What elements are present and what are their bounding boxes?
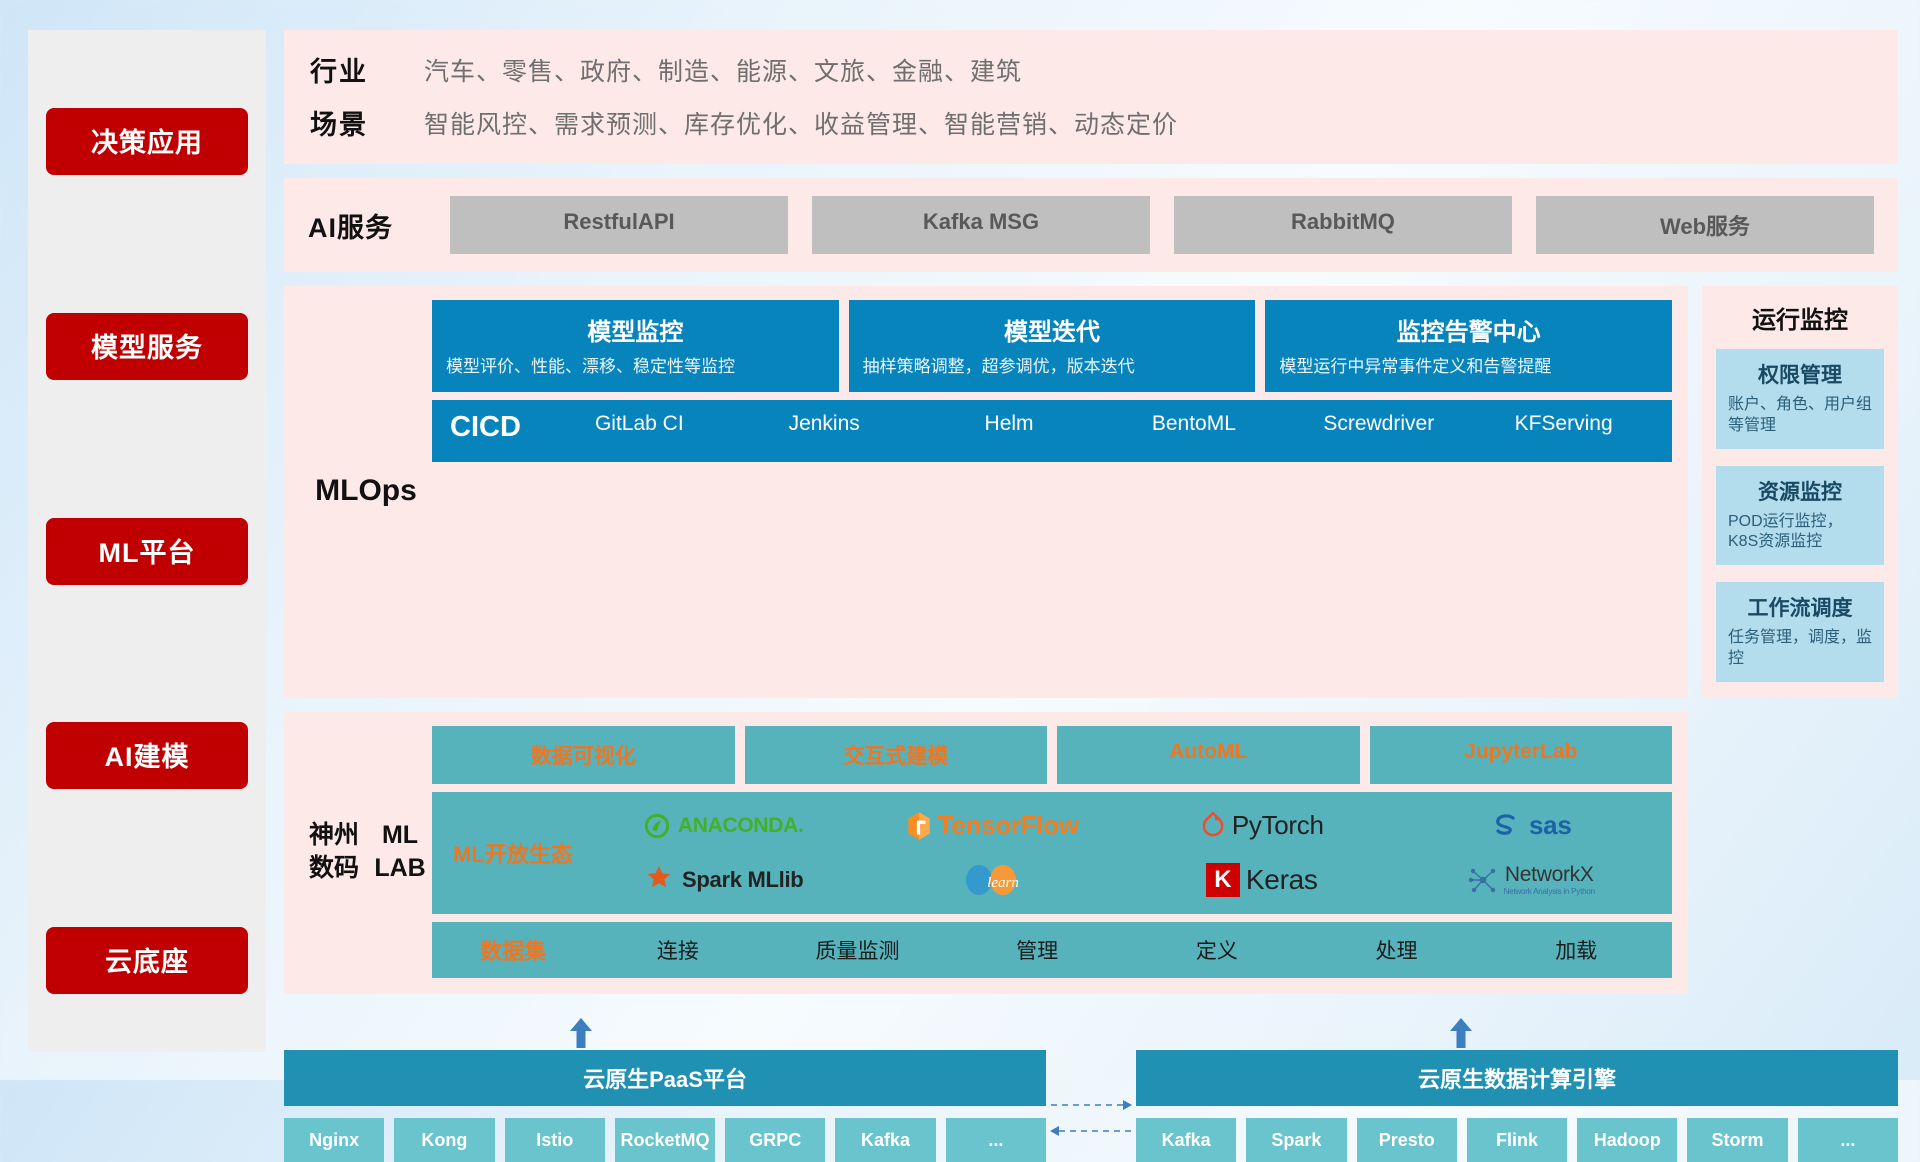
- ml-ecosystem-panel: ML开放生态 ANACONDA.: [432, 792, 1672, 914]
- diagram-root: 决策应用 模型服务 ML平台 AI建模 云底座 行业 汽车、零售、政府、制造、能…: [0, 0, 1920, 1080]
- cicd-item-jenkins[interactable]: Jenkins: [734, 411, 915, 437]
- ai-service-button-kafka-msg[interactable]: Kafka MSG: [812, 196, 1150, 254]
- ml-lab-panel: 神州数码 ML LAB 数据可视化 交互式建模 AutoML JupyterLa…: [284, 712, 1688, 994]
- ai-service-button-restfulapi[interactable]: RestfulAPI: [450, 196, 788, 254]
- pytorch-icon: [1200, 811, 1226, 841]
- rail-item-ai-modeling[interactable]: AI建模: [46, 722, 248, 789]
- card-title: 资源监控: [1728, 476, 1872, 506]
- card-title: 工作流调度: [1728, 592, 1872, 622]
- paas-chip-istio[interactable]: Istio: [505, 1118, 605, 1162]
- ml-lab-label-line1: 神州数码: [300, 819, 368, 884]
- ai-service-panel: AI服务 RestfulAPI Kafka MSG RabbitMQ Web服务: [284, 178, 1898, 272]
- networkx-wordmark: NetworkX Network Analysis in Python: [1504, 863, 1595, 896]
- dataset-item-quality-monitoring[interactable]: 质量监测: [768, 935, 948, 965]
- paas-chip-kong[interactable]: Kong: [394, 1118, 494, 1162]
- engine-chip-flink[interactable]: Flink: [1467, 1118, 1567, 1162]
- anaconda-icon: [642, 811, 672, 841]
- paas-chip-grpc[interactable]: GRPC: [725, 1118, 825, 1162]
- tool-chip-jupyterlab[interactable]: JupyterLab: [1370, 726, 1673, 784]
- card-desc: 模型评价、性能、漂移、稳定性等监控: [446, 356, 825, 378]
- engine-chips: Kafka Spark Presto Flink Hadoop Storm ..…: [1136, 1118, 1898, 1162]
- engine-chip-hadoop[interactable]: Hadoop: [1577, 1118, 1677, 1162]
- tool-chip-interactive-modeling[interactable]: 交互式建模: [745, 726, 1048, 784]
- ecosystem-logo-row-2: Spark MLlib learn: [588, 854, 1666, 906]
- dataset-row: 数据集 连接 质量监测 管理 定义 处理 加载: [432, 922, 1672, 978]
- logo-label: ANACONDA.: [678, 814, 804, 838]
- tool-chip-data-visualization[interactable]: 数据可视化: [432, 726, 735, 784]
- card-desc: 任务管理，调度，监控: [1728, 628, 1872, 670]
- mlops-label: MLOps: [300, 300, 432, 682]
- main-column: 行业 汽车、零售、政府、制造、能源、文旅、金融、建筑 场景 智能风控、需求预测、…: [284, 30, 1898, 1052]
- rail-item-ml-platform[interactable]: ML平台: [46, 518, 248, 585]
- ml-lab-label-line2: ML LAB: [368, 819, 432, 884]
- arrow-row: [284, 1016, 1898, 1050]
- dataset-item-loading[interactable]: 加载: [1486, 935, 1666, 965]
- scenario-value: 智能风控、需求预测、库存优化、收益管理、智能营销、动态定价: [424, 105, 1178, 141]
- dataset-item-definition[interactable]: 定义: [1127, 935, 1307, 965]
- paas-chip-rocketmq[interactable]: RocketMQ: [615, 1118, 715, 1162]
- engine-bar[interactable]: 云原生数据计算引擎: [1136, 1050, 1898, 1106]
- cicd-item-kfserving[interactable]: KFServing: [1473, 411, 1654, 437]
- engine-chip-kafka[interactable]: Kafka: [1136, 1118, 1236, 1162]
- logo-label: sas: [1529, 810, 1571, 841]
- card-desc: 抽样策略调整，超参调优，版本迭代: [863, 356, 1242, 378]
- arrow-up-icon: [1444, 1016, 1478, 1050]
- cicd-item-bentoml[interactable]: BentoML: [1103, 411, 1284, 437]
- monitor-card-workflow[interactable]: 工作流调度 任务管理，调度，监控: [1716, 582, 1884, 682]
- paas-bar[interactable]: 云原生PaaS平台: [284, 1050, 1046, 1106]
- engine-chip-more[interactable]: ...: [1798, 1118, 1898, 1162]
- bidirectional-dashed-connector: [1047, 1092, 1135, 1144]
- logo-spark-mllib[interactable]: Spark MLlib: [588, 854, 858, 906]
- engine-chip-spark[interactable]: Spark: [1246, 1118, 1346, 1162]
- ml-lab-content: 数据可视化 交互式建模 AutoML JupyterLab ML开放生态: [432, 726, 1672, 978]
- cicd-item-screwdriver[interactable]: Screwdriver: [1288, 411, 1469, 437]
- paas-chip-nginx[interactable]: Nginx: [284, 1118, 384, 1162]
- mlops-card-alert-center[interactable]: 监控告警中心 模型运行中异常事件定义和告警提醒: [1265, 300, 1672, 392]
- card-desc: POD运行监控，K8S资源监控: [1728, 512, 1872, 554]
- rail-item-model-service[interactable]: 模型服务: [46, 313, 248, 380]
- industry-label: 行业: [310, 50, 396, 89]
- logo-anaconda[interactable]: ANACONDA.: [588, 800, 858, 852]
- networkx-tagline: Network Analysis in Python: [1504, 887, 1595, 896]
- scenario-label: 场景: [310, 103, 396, 142]
- tensorflow-icon: [906, 811, 932, 841]
- dataset-label: 数据集: [438, 934, 588, 966]
- ml-ecosystem-label: ML开放生态: [438, 800, 588, 906]
- logo-label: Keras: [1246, 864, 1318, 896]
- logo-tensorflow[interactable]: TensorFlow: [858, 800, 1128, 852]
- card-title: 模型迭代: [863, 312, 1242, 347]
- svg-text:learn: learn: [987, 875, 1019, 891]
- industry-value: 汽车、零售、政府、制造、能源、文旅、金融、建筑: [424, 52, 1022, 88]
- industry-scenario-panel: 行业 汽车、零售、政府、制造、能源、文旅、金融、建筑 场景 智能风控、需求预测、…: [284, 30, 1898, 164]
- monitor-card-permission[interactable]: 权限管理 账户、角色、用户组等管理: [1716, 349, 1884, 449]
- layout-spacer: [1702, 712, 1898, 994]
- paas-column: 云原生PaaS平台 Nginx Kong Istio RocketMQ GRPC…: [284, 1050, 1046, 1162]
- logo-networkx[interactable]: NetworkX Network Analysis in Python: [1397, 854, 1667, 906]
- dataset-item-management[interactable]: 管理: [947, 935, 1127, 965]
- logo-label: TensorFlow: [938, 810, 1079, 841]
- rail-item-cloud-foundation[interactable]: 云底座: [46, 927, 248, 994]
- run-monitor-panel: 运行监控 权限管理 账户、角色、用户组等管理 资源监控 POD运行监控，K8S资…: [1702, 286, 1898, 698]
- logo-label: PyTorch: [1232, 810, 1324, 841]
- card-desc: 模型运行中异常事件定义和告警提醒: [1279, 356, 1658, 378]
- rail-item-decision-app[interactable]: 决策应用: [46, 108, 248, 175]
- logo-keras[interactable]: K Keras: [1127, 854, 1397, 906]
- ml-lab-label: 神州数码 ML LAB: [300, 726, 432, 978]
- logo-sas[interactable]: sas: [1397, 800, 1667, 852]
- cicd-item-gitlab-ci[interactable]: GitLab CI: [549, 411, 730, 437]
- ai-service-label: AI服务: [308, 206, 428, 245]
- ml-lab-row: 神州数码 ML LAB 数据可视化 交互式建模 AutoML JupyterLa…: [284, 712, 1898, 994]
- card-desc: 账户、角色、用户组等管理: [1728, 395, 1872, 437]
- card-title: 权限管理: [1728, 359, 1872, 389]
- dataset-item-processing[interactable]: 处理: [1307, 935, 1487, 965]
- ml-ecosystem-logos: ANACONDA. TensorFlow: [588, 800, 1666, 906]
- logo-label: NetworkX: [1505, 863, 1594, 887]
- keras-icon: K: [1206, 863, 1240, 897]
- ai-service-button-rabbitmq[interactable]: RabbitMQ: [1174, 196, 1512, 254]
- paas-chip-more[interactable]: ...: [946, 1118, 1046, 1162]
- mlops-content: 模型监控 模型评价、性能、漂移、稳定性等监控 模型迭代 抽样策略调整，超参调优，…: [432, 300, 1672, 682]
- left-rail: 决策应用 模型服务 ML平台 AI建模 云底座: [28, 30, 266, 1052]
- mlops-panel: MLOps 模型监控 模型评价、性能、漂移、稳定性等监控 模型迭代 抽样策略调整…: [284, 286, 1688, 698]
- arrow-up-icon: [564, 1016, 598, 1050]
- dashed-arrows-icon: [1047, 1092, 1135, 1144]
- tool-chip-automl[interactable]: AutoML: [1057, 726, 1360, 784]
- monitor-card-resource[interactable]: 资源监控 POD运行监控，K8S资源监控: [1716, 466, 1884, 566]
- ml-lab-tools: 数据可视化 交互式建模 AutoML JupyterLab: [432, 726, 1672, 784]
- networkx-icon: [1468, 865, 1498, 895]
- logo-scikit-learn[interactable]: learn: [858, 854, 1128, 906]
- scenario-line: 场景 智能风控、需求预测、库存优化、收益管理、智能营销、动态定价: [310, 103, 1872, 142]
- engine-column: 云原生数据计算引擎 Kafka Spark Presto Flink Hadoo…: [1136, 1050, 1898, 1162]
- run-monitor-title: 运行监控: [1716, 300, 1884, 335]
- cicd-label: CICD: [450, 411, 521, 444]
- mlops-card-model-monitoring[interactable]: 模型监控 模型评价、性能、漂移、稳定性等监控: [432, 300, 839, 392]
- up-arrow-engine: [1444, 1016, 1478, 1050]
- cicd-bar: CICD GitLab CI Jenkins Helm BentoML Scre…: [432, 400, 1672, 462]
- up-arrow-paas: [564, 1016, 598, 1050]
- spark-icon: [642, 864, 676, 896]
- engine-chip-storm[interactable]: Storm: [1687, 1118, 1787, 1162]
- cloud-foundation-section: 云原生PaaS平台 Nginx Kong Istio RocketMQ GRPC…: [284, 1016, 1898, 1162]
- ecosystem-logo-row-1: ANACONDA. TensorFlow: [588, 800, 1666, 852]
- mlops-row: MLOps 模型监控 模型评价、性能、漂移、稳定性等监控 模型迭代 抽样策略调整…: [284, 286, 1898, 698]
- cicd-item-helm[interactable]: Helm: [919, 411, 1100, 437]
- paas-chips: Nginx Kong Istio RocketMQ GRPC Kafka ...: [284, 1118, 1046, 1162]
- mlops-card-model-iteration[interactable]: 模型迭代 抽样策略调整，超参调优，版本迭代: [849, 300, 1256, 392]
- run-monitor-cards: 权限管理 账户、角色、用户组等管理 资源监控 POD运行监控，K8S资源监控 工…: [1716, 349, 1884, 682]
- card-title: 监控告警中心: [1279, 312, 1658, 347]
- ai-service-buttons: RestfulAPI Kafka MSG RabbitMQ Web服务: [450, 196, 1874, 254]
- engine-chip-presto[interactable]: Presto: [1357, 1118, 1457, 1162]
- dataset-item-connect[interactable]: 连接: [588, 935, 768, 965]
- scikit-learn-icon: learn: [961, 863, 1023, 897]
- logo-label: Spark MLlib: [682, 867, 803, 893]
- logo-pytorch[interactable]: PyTorch: [1127, 800, 1397, 852]
- ai-service-button-web-service[interactable]: Web服务: [1536, 196, 1874, 254]
- card-title: 模型监控: [446, 312, 825, 347]
- industry-line: 行业 汽车、零售、政府、制造、能源、文旅、金融、建筑: [310, 50, 1872, 89]
- sas-icon: [1491, 811, 1523, 841]
- mlops-cards: 模型监控 模型评价、性能、漂移、稳定性等监控 模型迭代 抽样策略调整，超参调优，…: [432, 300, 1672, 392]
- paas-chip-kafka[interactable]: Kafka: [835, 1118, 935, 1162]
